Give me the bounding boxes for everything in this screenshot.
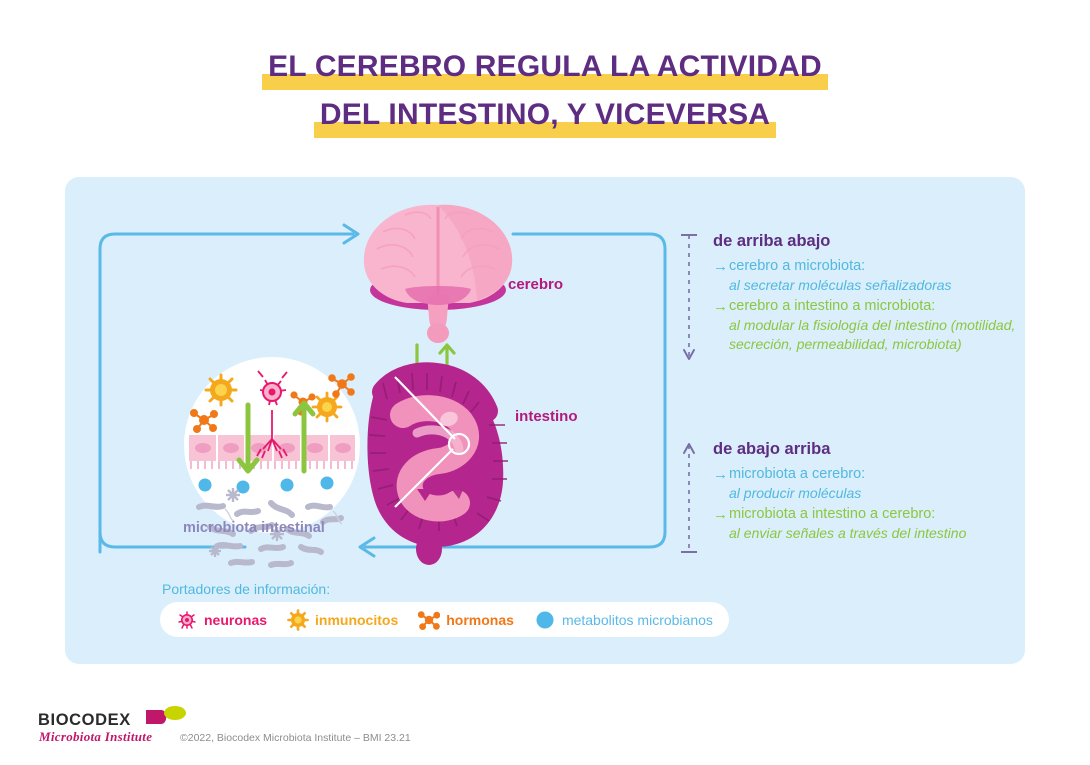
arrow-right-icon: → [713, 257, 729, 276]
bottom-up-item-1: → microbiota a cerebro: al producir molé… [713, 465, 1023, 503]
bottom-up-item-2-sub: al enviar señales a través del intestino [713, 524, 1023, 543]
title-line-1: EL CEREBRO REGULA LA ACTIVIDAD [0, 48, 1090, 90]
top-down-indicator [681, 235, 697, 359]
bottom-up-item-2: → microbiota a intestino a cerebro: al e… [713, 505, 1023, 543]
legend-item-hormonas: hormonas [418, 609, 514, 631]
legend-item-neuronas: neuronas [176, 609, 267, 631]
title-line-2: DEL INTESTINO, Y VICEVERSA [0, 96, 1090, 138]
bottom-up-heading: de abajo arriba [713, 440, 1023, 458]
neuron-icon [176, 609, 198, 631]
legend-item-metabolitos: metabolitos microbianos [534, 609, 713, 631]
legend-item-inmunocitos: inmunocitos [287, 609, 398, 631]
arrow-right-icon: → [713, 297, 729, 316]
title-line-2-text: DEL INTESTINO, Y VICEVERSA [314, 96, 776, 138]
hormone-molecule-icon [418, 609, 440, 631]
arrow-right-icon: → [713, 465, 729, 484]
microbial-metabolite-icon [534, 609, 556, 631]
legend-label-inmunocitos: inmunocitos [315, 612, 398, 628]
legend-title: Portadores de información: [162, 581, 330, 597]
top-down-item-1: → cerebro a microbiota: al secretar molé… [713, 257, 1023, 295]
logo-mark-icon [144, 705, 190, 729]
legend-label-metabolitos: metabolitos microbianos [562, 612, 713, 628]
legend-label-neuronas: neuronas [204, 612, 267, 628]
top-down-heading: de arriba abajo [713, 232, 1023, 250]
top-down-item-2-main: cerebro a intestino a microbiota: [729, 297, 935, 316]
logo-wordmark: BIOCODEX [38, 711, 131, 730]
bottom-up-indicator [681, 444, 697, 552]
top-down-item-2: → cerebro a intestino a microbiota: al m… [713, 297, 1023, 354]
legend-label-hormonas: hormonas [446, 612, 514, 628]
top-down-item-2-sub: al modular la fisiología del intestino (… [713, 316, 1023, 354]
intestine-illustration [367, 373, 508, 565]
bottom-up-item-1-main: microbiota a cerebro: [729, 465, 865, 484]
arrow-right-icon: → [713, 505, 729, 524]
page-title: EL CEREBRO REGULA LA ACTIVIDAD DEL INTES… [0, 48, 1090, 144]
bottom-up-item-1-sub: al producir moléculas [713, 484, 1023, 503]
legend-bar: neuronas inmunocitos [160, 602, 729, 637]
footer: BIOCODEX Microbiota Institute ©2022, Bio… [38, 705, 1048, 751]
top-down-block: de arriba abajo → cerebro a microbiota: … [713, 232, 1023, 356]
title-line-1-text: EL CEREBRO REGULA LA ACTIVIDAD [262, 48, 828, 90]
microbiota-label: microbiota intestinal [183, 520, 325, 536]
gut-label: intestino [515, 408, 578, 425]
bottom-up-item-2-main: microbiota a intestino a cerebro: [729, 505, 935, 524]
infographic-panel: cerebro intestino microbiota intestinal … [65, 177, 1025, 664]
brain-illustration [364, 205, 512, 343]
copyright-text: ©2022, Biocodex Microbiota Institute – B… [180, 732, 411, 744]
top-down-item-1-sub: al secretar moléculas señalizadoras [713, 276, 1023, 295]
brain-label: cerebro [508, 276, 563, 293]
logo-tagline: Microbiota Institute [39, 729, 152, 745]
immune-cell-icon [287, 609, 309, 631]
top-down-item-1-main: cerebro a microbiota: [729, 257, 865, 276]
bottom-up-block: de abajo arriba → microbiota a cerebro: … [713, 440, 1023, 545]
